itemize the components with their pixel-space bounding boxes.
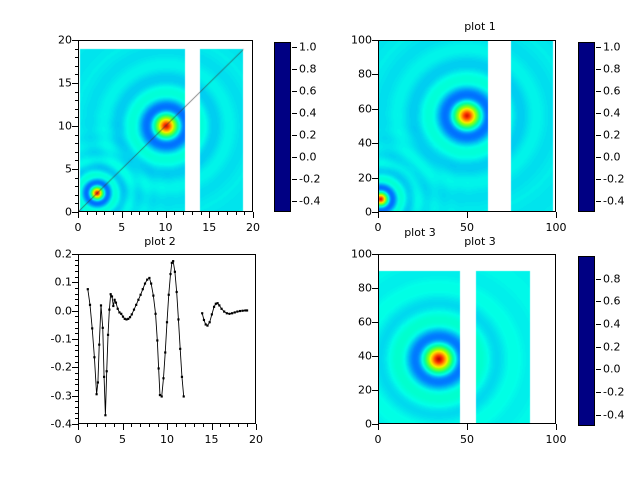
subplot-title-bottom-left: plot 2	[0, 235, 320, 248]
colorbar-tick	[596, 324, 601, 325]
x-axis-minor-tick	[131, 212, 132, 215]
x-axis-minor-tick	[166, 212, 167, 215]
colorbar-tick	[292, 157, 297, 158]
x-axis-minor-tick	[148, 212, 149, 215]
x-axis-minor-tick	[238, 424, 239, 427]
line-series-marker	[164, 351, 166, 353]
x-axis-minor-tick	[185, 424, 186, 427]
colorbar-gradient	[275, 43, 290, 211]
line-series-marker	[122, 316, 124, 318]
colorbar-top-right	[578, 42, 595, 212]
colorbar-tick	[596, 113, 601, 114]
line-series-marker	[135, 304, 137, 306]
line-series-marker	[131, 313, 133, 315]
y-axis-minor-tick	[75, 169, 78, 170]
line-series-marker	[140, 294, 142, 296]
line-series-marker	[231, 312, 233, 314]
y-axis-tick	[372, 390, 378, 391]
y-axis-minor-tick	[75, 345, 78, 346]
y-axis-minor-tick	[75, 333, 78, 334]
y-axis-minor-tick	[75, 66, 78, 67]
x-axis-minor-tick	[236, 212, 237, 215]
line-series-marker	[106, 370, 108, 372]
x-axis-minor-tick	[140, 424, 141, 427]
x-axis-minor-tick	[114, 424, 115, 427]
line-series-marker	[216, 302, 218, 304]
x-axis-tick-label: 20	[249, 433, 263, 446]
line-series-path	[88, 261, 184, 415]
y-axis-minor-tick	[75, 271, 78, 272]
colorbar-tick	[596, 69, 601, 70]
colorbar-bottom-right	[578, 256, 595, 426]
y-axis-minor-tick	[75, 152, 78, 153]
colorbar-tick-label: -0.4	[299, 195, 320, 208]
x-axis-minor-tick	[194, 424, 195, 427]
line-series-marker	[242, 310, 244, 312]
y-axis-minor-tick	[75, 135, 78, 136]
colorbar-tick-label: 0.8	[603, 272, 621, 285]
x-axis-minor-tick	[157, 212, 158, 215]
y-axis-tick-label: 0.2	[32, 248, 72, 261]
colorbar-tick-label: 0.4	[603, 318, 621, 331]
line-series-marker	[172, 260, 174, 262]
x-axis-minor-tick	[87, 212, 88, 215]
y-axis-tick-label: 100	[332, 248, 372, 261]
colorbar-tick	[292, 113, 297, 114]
line-series-marker	[148, 277, 150, 279]
colorbar-tick	[596, 347, 601, 348]
y-axis-minor-tick	[75, 49, 78, 50]
line-series-plot	[79, 255, 255, 423]
x-axis-minor-tick	[212, 424, 213, 427]
line-series-marker	[103, 376, 105, 378]
line-series-marker	[96, 393, 98, 395]
x-axis-tick-label: 0	[75, 433, 82, 446]
colorbar-tick-label: 0.2	[603, 129, 621, 142]
colorbar-tick-label: 0.4	[603, 107, 621, 120]
y-axis-minor-tick	[75, 265, 78, 266]
y-axis-minor-tick	[75, 212, 78, 213]
colorbar-tick	[292, 201, 297, 202]
colorbar-tick-label: 0.8	[299, 63, 317, 76]
y-axis-minor-tick	[75, 57, 78, 58]
y-axis-tick	[372, 356, 378, 357]
line-series-marker	[239, 310, 241, 312]
line-series-marker	[234, 311, 236, 313]
line-series-marker	[114, 299, 116, 301]
colorbar-tick-label: 0.6	[603, 295, 621, 308]
colorbar-tick	[596, 179, 601, 180]
colorbar-tick-label: 0.0	[603, 151, 621, 164]
y-axis-tick	[372, 109, 378, 110]
colorbar-tick	[596, 415, 601, 416]
line-series-marker	[176, 291, 178, 293]
x-axis-minor-tick	[244, 212, 245, 215]
x-axis-minor-tick	[253, 212, 254, 215]
x-axis-minor-tick	[218, 212, 219, 215]
y-axis-minor-tick	[75, 92, 78, 93]
x-axis-minor-tick	[167, 424, 168, 427]
colorbar-tick-label: 0.2	[299, 129, 317, 142]
subplot-top-right: plot 1 plot 3 1.00.80.60.40.20.0-0.2-0.4…	[320, 18, 640, 240]
line-series-marker	[211, 313, 213, 315]
y-axis-minor-tick	[75, 109, 78, 110]
y-axis-tick-label: 10	[32, 120, 72, 133]
line-series-marker	[112, 305, 114, 307]
y-axis-tick	[372, 212, 378, 213]
line-series-marker	[91, 327, 93, 329]
x-axis-minor-tick	[87, 424, 88, 427]
x-axis-tick	[378, 212, 379, 218]
line-series-marker	[98, 344, 100, 346]
subplot-bottom-right: plot 3 0.80.60.40.20.0-0.2-0.4 050100020…	[320, 232, 640, 480]
line-series-marker	[168, 294, 170, 296]
x-axis-minor-tick	[123, 424, 124, 427]
y-axis-minor-tick	[75, 305, 78, 306]
y-axis-tick-label: -0.2	[32, 361, 72, 374]
colorbar-tick-label: -0.2	[299, 173, 320, 186]
x-axis-tick	[556, 212, 557, 218]
colorbar-tick-label: 1.0	[603, 41, 621, 54]
x-axis-minor-tick	[78, 212, 79, 215]
colorbar-tick-label: 0.6	[603, 85, 621, 98]
y-axis-minor-tick	[75, 117, 78, 118]
y-axis-minor-tick	[75, 195, 78, 196]
y-axis-tick-label: 40	[332, 350, 372, 363]
y-axis-minor-tick	[75, 401, 78, 402]
colorbar-tick-label: 0.0	[603, 363, 621, 376]
x-axis-minor-tick	[247, 424, 248, 427]
x-axis-minor-tick	[229, 424, 230, 427]
line-series-marker	[146, 279, 148, 281]
y-axis-minor-tick	[75, 339, 78, 340]
x-axis-tick-label: 0	[375, 433, 382, 446]
line-series-marker	[209, 321, 211, 323]
y-axis-minor-tick	[75, 203, 78, 204]
y-axis-tick	[372, 178, 378, 179]
line-series-marker	[203, 319, 205, 321]
y-axis-minor-tick	[75, 143, 78, 144]
colorbar-tick-label: 0.0	[299, 151, 317, 164]
y-axis-minor-tick	[75, 322, 78, 323]
x-axis-minor-tick	[203, 424, 204, 427]
x-axis-minor-tick	[139, 212, 140, 215]
colorbar-tick	[292, 69, 297, 70]
line-series-marker	[161, 395, 163, 397]
x-axis-tick-label: 5	[119, 433, 126, 446]
y-axis-minor-tick	[75, 396, 78, 397]
y-axis-minor-tick	[75, 260, 78, 261]
x-axis-minor-tick	[122, 212, 123, 215]
y-axis-tick-label: 20	[32, 34, 72, 47]
y-axis-minor-tick	[75, 83, 78, 84]
y-axis-tick-label: 60	[332, 102, 372, 115]
y-axis-tick-label: 0	[332, 418, 372, 431]
colorbar-tick	[596, 157, 601, 158]
y-axis-minor-tick	[75, 316, 78, 317]
subplot-top-left: 1.00.80.60.40.20.0-0.2-0.4 0510152005101…	[0, 18, 320, 240]
x-axis-tick-label: 15	[205, 433, 219, 446]
x-axis-minor-tick	[176, 424, 177, 427]
line-series-marker	[218, 304, 220, 306]
x-axis-minor-tick	[256, 424, 257, 427]
y-axis-minor-tick	[75, 367, 78, 368]
colorbar-tick	[596, 201, 601, 202]
y-axis-minor-tick	[75, 282, 78, 283]
line-series-marker	[129, 316, 131, 318]
x-axis-minor-tick	[131, 424, 132, 427]
y-axis-minor-tick	[75, 294, 78, 295]
heatmap-image	[379, 255, 555, 423]
y-axis-tick-label: -0.3	[32, 389, 72, 402]
y-axis-minor-tick	[75, 390, 78, 391]
x-axis-minor-tick	[96, 212, 97, 215]
x-axis-tick	[467, 212, 468, 218]
axes-bottom-right	[378, 254, 556, 424]
line-series-marker	[166, 321, 168, 323]
y-axis-minor-tick	[75, 126, 78, 127]
y-axis-tick-label: 80	[332, 68, 372, 81]
line-series-marker	[181, 376, 183, 378]
heatmap-image	[379, 41, 555, 211]
line-series-marker	[206, 325, 208, 327]
y-axis-minor-tick	[75, 328, 78, 329]
colorbar-tick	[596, 301, 601, 302]
y-axis-tick-label: 5	[32, 163, 72, 176]
x-axis-minor-tick	[149, 424, 150, 427]
y-axis-minor-tick	[75, 356, 78, 357]
colorbar-tick	[596, 91, 601, 92]
colorbar-tick	[596, 135, 601, 136]
line-series-marker	[100, 304, 102, 306]
line-series-marker	[246, 309, 248, 311]
colorbar-tick-label: 0.4	[299, 107, 317, 120]
x-axis-minor-tick	[227, 212, 228, 215]
line-series-marker	[107, 334, 109, 336]
line-series-marker	[169, 273, 171, 275]
x-axis-minor-tick	[183, 212, 184, 215]
y-axis-minor-tick	[75, 288, 78, 289]
line-series-marker	[142, 288, 144, 290]
colorbar-tick	[292, 135, 297, 136]
line-series-marker	[201, 312, 203, 314]
line-series-marker	[89, 304, 91, 306]
x-axis-minor-tick	[96, 424, 97, 427]
y-axis-tick-label: 40	[332, 137, 372, 150]
line-series-marker	[228, 313, 230, 315]
line-series-marker	[108, 309, 110, 311]
y-axis-minor-tick	[75, 418, 78, 419]
line-series-marker	[117, 308, 119, 310]
line-series-marker	[110, 293, 112, 295]
y-axis-minor-tick	[75, 40, 78, 41]
y-axis-tick	[372, 74, 378, 75]
colorbar-tick-label: -0.4	[603, 195, 624, 208]
x-axis-minor-tick	[209, 212, 210, 215]
y-axis-tick-label: 0	[332, 206, 372, 219]
line-series-marker	[111, 295, 113, 297]
axes-top-left	[78, 40, 253, 212]
y-axis-tick	[372, 254, 378, 255]
y-axis-minor-tick	[75, 254, 78, 255]
y-axis-tick-label: 20	[332, 384, 372, 397]
colorbar-tick	[292, 91, 297, 92]
subplot-bottom-left: plot 2 051015200.20.10.0-0.1-0.2-0.3-0.4	[0, 232, 320, 480]
line-series-marker	[137, 299, 139, 301]
heatmap-image	[79, 41, 252, 211]
line-series-marker	[236, 310, 238, 312]
line-series-marker	[104, 414, 106, 416]
line-series-marker	[115, 302, 117, 304]
line-series-marker	[144, 282, 146, 284]
line-series-marker	[154, 313, 156, 315]
line-series-marker	[156, 339, 158, 341]
colorbar-tick	[596, 47, 601, 48]
colorbar-top-left	[274, 42, 291, 212]
line-series-marker	[174, 271, 176, 273]
x-axis-tick	[378, 424, 379, 430]
y-axis-minor-tick	[75, 178, 78, 179]
axes-bottom-left	[78, 254, 256, 424]
colorbar-gradient	[579, 257, 594, 425]
x-axis-minor-tick	[174, 212, 175, 215]
colorbar-tick-label: 0.6	[299, 85, 317, 98]
line-series-marker	[152, 295, 154, 297]
x-axis-tick-label: 10	[160, 433, 174, 446]
y-axis-tick-label: -0.4	[32, 418, 72, 431]
line-series-marker	[102, 327, 104, 329]
subplot-title-top-right: plot 1	[320, 20, 640, 33]
y-axis-minor-tick	[75, 373, 78, 374]
line-series-marker	[162, 377, 164, 379]
line-series-marker	[220, 308, 222, 310]
y-axis-tick	[372, 322, 378, 323]
line-series-marker	[93, 356, 95, 358]
y-axis-minor-tick	[75, 407, 78, 408]
line-series-marker	[120, 313, 122, 315]
x-axis-minor-tick	[104, 212, 105, 215]
colorbar-tick-label: 0.2	[603, 340, 621, 353]
y-axis-minor-tick	[75, 424, 78, 425]
line-series-marker	[87, 288, 89, 290]
y-axis-minor-tick	[75, 100, 78, 101]
x-axis-tick-label: 100	[546, 433, 567, 446]
y-axis-minor-tick	[75, 160, 78, 161]
line-series-marker	[97, 381, 99, 383]
y-axis-minor-tick	[75, 350, 78, 351]
y-axis-tick	[372, 424, 378, 425]
line-series-marker	[150, 282, 152, 284]
y-axis-minor-tick	[75, 311, 78, 312]
line-series-marker	[183, 395, 185, 397]
line-series-marker	[179, 348, 181, 350]
y-axis-minor-tick	[75, 186, 78, 187]
y-axis-tick	[372, 288, 378, 289]
colorbar-tick	[596, 369, 601, 370]
colorbar-tick-label: 0.8	[603, 63, 621, 76]
x-axis-minor-tick	[105, 424, 106, 427]
y-axis-minor-tick	[75, 384, 78, 385]
y-axis-tick	[372, 143, 378, 144]
colorbar-tick-label: 1.0	[299, 41, 317, 54]
x-axis-minor-tick	[78, 424, 79, 427]
axes-top-right	[378, 40, 556, 212]
figure-canvas: 1.00.80.60.40.20.0-0.2-0.4 0510152005101…	[0, 0, 640, 480]
y-axis-tick-label: 20	[332, 171, 372, 184]
line-series-marker	[158, 367, 160, 369]
colorbar-tick	[292, 47, 297, 48]
line-series-marker	[133, 309, 135, 311]
y-axis-minor-tick	[75, 413, 78, 414]
y-axis-minor-tick	[75, 299, 78, 300]
colorbar-tick	[292, 179, 297, 180]
y-axis-minor-tick	[75, 74, 78, 75]
y-axis-tick-label: 0.0	[32, 304, 72, 317]
colorbar-tick	[596, 392, 601, 393]
colorbar-tick-label: -0.2	[603, 173, 624, 186]
y-axis-tick-label: 0.1	[32, 276, 72, 289]
y-axis-minor-tick	[75, 362, 78, 363]
x-axis-minor-tick	[158, 424, 159, 427]
colorbar-tick-label: -0.2	[603, 386, 624, 399]
y-axis-tick-label: 15	[32, 77, 72, 90]
y-axis-tick-label: -0.1	[32, 333, 72, 346]
y-axis-tick-label: 80	[332, 282, 372, 295]
y-axis-minor-tick	[75, 277, 78, 278]
x-axis-minor-tick	[192, 212, 193, 215]
subplot-title-bottom-right: plot 3	[320, 235, 640, 248]
line-series-marker	[213, 306, 215, 308]
colorbar-gradient	[579, 43, 594, 211]
y-axis-minor-tick	[75, 379, 78, 380]
x-axis-minor-tick	[220, 424, 221, 427]
colorbar-tick	[596, 279, 601, 280]
x-axis-minor-tick	[201, 212, 202, 215]
x-axis-tick	[467, 424, 468, 430]
line-series-marker	[226, 312, 228, 314]
x-axis-tick	[556, 424, 557, 430]
x-axis-tick-label: 50	[460, 433, 474, 446]
colorbar-tick-label: -0.4	[603, 408, 624, 421]
line-series-marker	[223, 310, 225, 312]
y-axis-tick	[372, 40, 378, 41]
x-axis-minor-tick	[113, 212, 114, 215]
line-series-marker	[177, 318, 179, 320]
y-axis-tick-label: 100	[332, 34, 372, 47]
y-axis-tick-label: 60	[332, 316, 372, 329]
y-axis-tick-label: 0	[32, 206, 72, 219]
